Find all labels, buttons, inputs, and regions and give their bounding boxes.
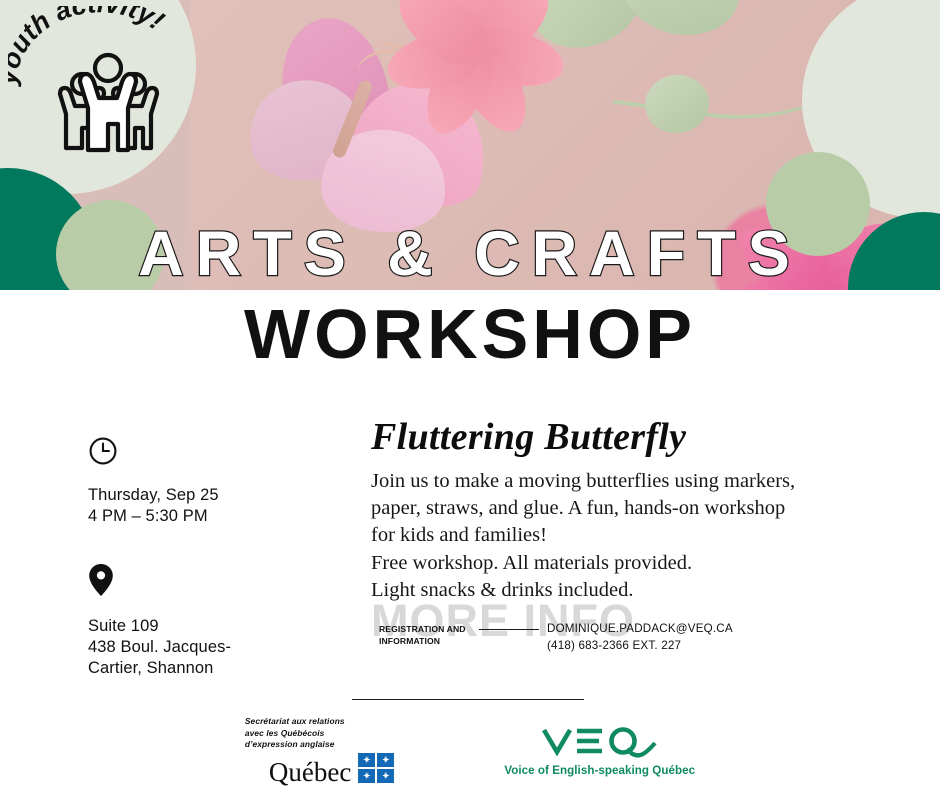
workshop-description: Join us to make a moving butterflies usi… (371, 468, 871, 604)
veq-tagline: Voice of English-speaking Québec (504, 764, 695, 777)
page-title-line2: WORKSHOP (0, 294, 940, 374)
quebec-wordmark-row: Québec (269, 753, 394, 786)
detail-location: Suite 109 438 Boul. Jacques- Cartier, Sh… (88, 563, 303, 679)
contact-details[interactable]: DOMINIQUE.PADDACK@VEQ.CA (418) 683-2366 … (547, 621, 733, 655)
quebec-government-logo: Secrétariat aux relations avec les Québé… (245, 716, 394, 785)
detail-time: Thursday, Sep 25 4 PM – 5:30 PM (88, 436, 303, 527)
registration-label: REGISTRATION AND INFORMATION (379, 621, 479, 647)
clock-icon (88, 436, 303, 471)
quebec-tagline: Secrétariat aux relations avec les Québé… (245, 716, 345, 750)
quebec-fleur-de-lis-flag-icon (358, 753, 394, 783)
more-info-section: MORE INFO REGISTRATION AND INFORMATION D… (371, 601, 771, 663)
page-title-line1: ARTS & CRAFTS (0, 218, 940, 290)
quebec-wordmark: Québec (269, 760, 351, 786)
map-pin-icon (88, 563, 303, 602)
three-people-raised-arms-icon (52, 48, 164, 156)
youth-activity-badge: youth activity! (0, 0, 196, 200)
label-rule-divider (479, 629, 539, 630)
footer-logos: Secrétariat aux relations avec les Québé… (0, 716, 940, 786)
workshop-name: Fluttering Butterfly (371, 418, 871, 458)
detail-location-text: Suite 109 438 Boul. Jacques- Cartier, Sh… (88, 616, 303, 679)
poster: youth activity! ARTS & CRAF (0, 0, 940, 788)
event-details: Thursday, Sep 25 4 PM – 5:30 PM Suite 10… (88, 436, 303, 680)
veq-logo: Voice of English-speaking Québec (504, 726, 695, 777)
detail-time-text: Thursday, Sep 25 4 PM – 5:30 PM (88, 485, 303, 527)
more-info-row: REGISTRATION AND INFORMATION DOMINIQUE.P… (379, 621, 733, 655)
veq-wordmark-icon (541, 726, 659, 763)
footer-divider (352, 699, 584, 700)
workshop-info: Fluttering Butterfly Join us to make a m… (371, 418, 871, 604)
paper-butterfly-icon (250, 18, 540, 218)
